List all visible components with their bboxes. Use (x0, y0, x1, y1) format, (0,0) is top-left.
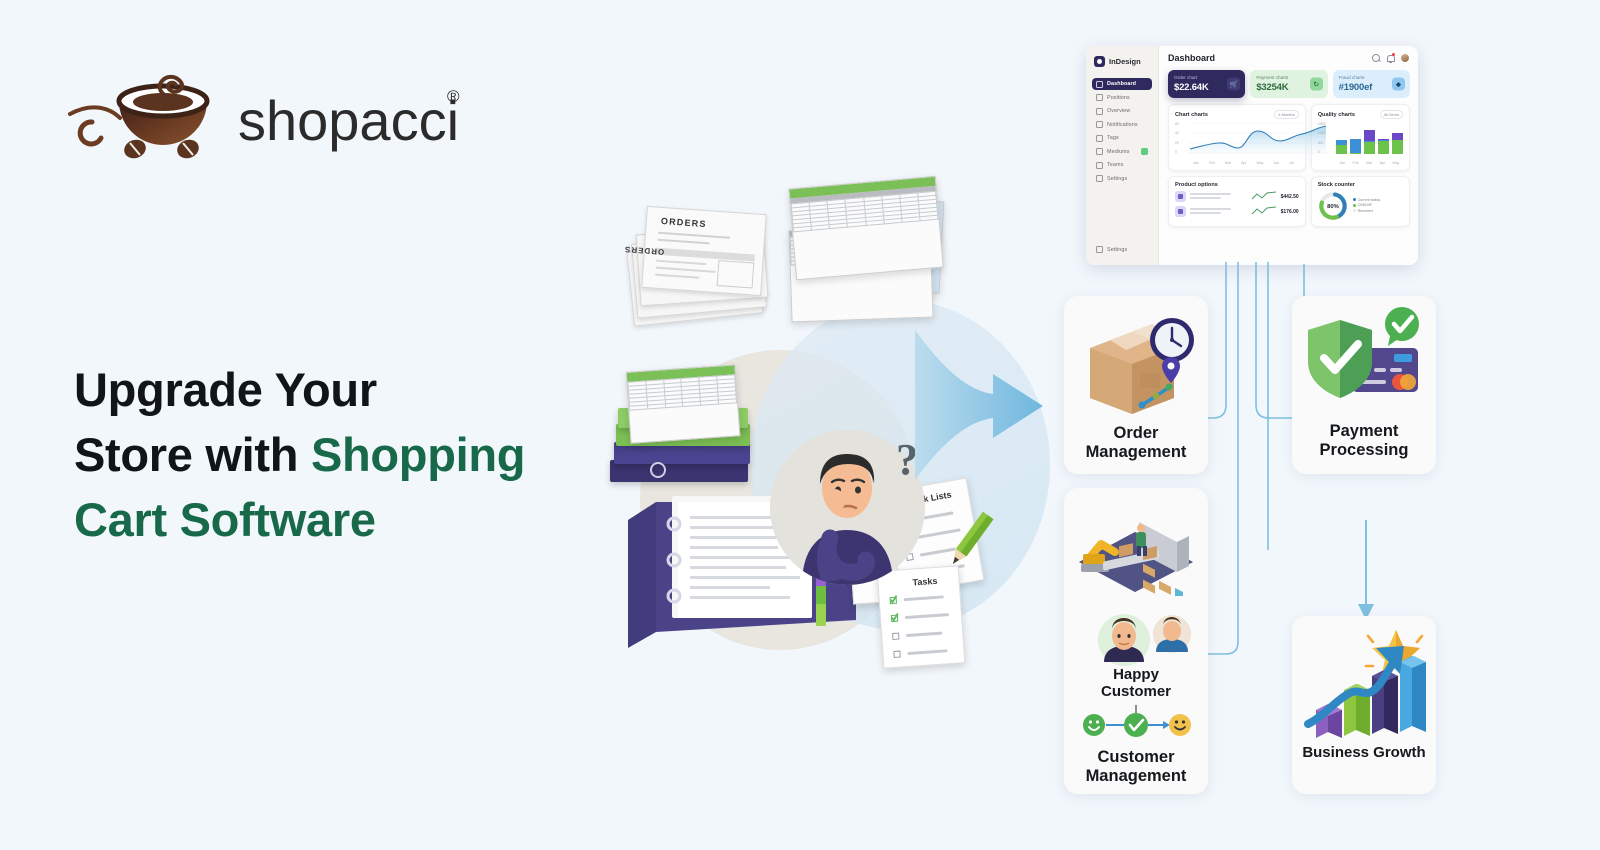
clock-icon (1150, 318, 1194, 362)
page-title: Upgrade Your Store with Shopping Cart So… (74, 358, 594, 553)
sidebar-item-label: Tags (1107, 135, 1119, 141)
nav-icon (1096, 108, 1103, 115)
sidebar-item-label: Settings (1107, 176, 1127, 182)
search-icon[interactable] (1372, 54, 1380, 62)
sidebar-item-positions[interactable]: Positions (1092, 92, 1152, 104)
headline-line-2-plain: Store with (74, 428, 311, 481)
order-management-illustration (1076, 304, 1196, 422)
bar-segment (1392, 133, 1403, 140)
bar-segment (1364, 142, 1375, 154)
area-xtick: Jun (1273, 161, 1279, 165)
nav-icon (1096, 162, 1103, 169)
order-caption-1: Order (1086, 424, 1187, 443)
sidebar-item-label: Notifications (1107, 122, 1138, 128)
nav-badge (1141, 148, 1148, 155)
stock-donut-chart: 80% (1318, 191, 1348, 221)
bar-segment (1350, 153, 1361, 154)
growth-down-arrow-icon (1355, 520, 1385, 630)
product-row[interactable]: $442.50 (1175, 191, 1299, 202)
bar-column (1378, 123, 1389, 154)
area-chart-title: Chart charts (1175, 112, 1208, 118)
sparkline (1251, 191, 1277, 202)
headline-line-1: Upgrade Your (74, 363, 377, 416)
dashboard-brand: InDesign (1092, 56, 1152, 67)
feature-card-order-management[interactable]: Order Management (1064, 296, 1208, 474)
dashboard-stat-cards: Order chart$22.64K🛒Payment charts$3254K↻… (1168, 70, 1410, 98)
stat-card-order-chart[interactable]: Order chart$22.64K🛒 (1168, 70, 1245, 98)
chart-card-bar: Quality charts All Items 1500 1000 500 0… (1311, 104, 1410, 171)
bar-column (1336, 123, 1347, 154)
feature-card-business-growth[interactable]: Business Growth (1292, 616, 1436, 794)
dashboard-charts-row: Chart charts 6 Months 60 40 20 0 (1168, 104, 1410, 171)
sidebar-item-label: Teams (1107, 162, 1123, 168)
logo-wordmark: shopaccino (238, 89, 462, 152)
payment-caption-2: Processing (1320, 441, 1409, 460)
bar-xtick: Jan (1339, 161, 1345, 165)
bar-ytick-2: 500 (1318, 141, 1334, 145)
cart-icon: 🛒 (1227, 78, 1240, 91)
dashboard-nav-list: DashboardPositionsOverviewNotificationsT… (1092, 78, 1152, 186)
area-ytick-2: 20 (1175, 141, 1187, 145)
sidebar-item-overview[interactable]: Overview (1092, 105, 1152, 117)
product-value: $176.00 (1281, 209, 1299, 215)
sidebar-item-label: Positions (1107, 95, 1130, 101)
product-placeholder-lines (1190, 193, 1247, 201)
brand-logo-icon (1094, 56, 1105, 67)
stock-counter-card: Stock counter 80% Current statusC05615FR… (1311, 176, 1410, 227)
payment-caption-1: Payment (1320, 422, 1409, 441)
sparkline (1251, 206, 1277, 217)
nav-icon (1096, 175, 1103, 182)
customer-avatar (1076, 612, 1196, 668)
area-chart-filter[interactable]: 6 Months (1274, 110, 1298, 119)
nav-icon (1096, 148, 1103, 155)
customer-caption-1: Customer (1086, 748, 1187, 767)
growth-caption-1: Business Growth (1302, 744, 1425, 761)
bar-column (1392, 123, 1403, 154)
area-xtick: Mar (1225, 161, 1231, 165)
sidebar-item-teams[interactable]: Teams (1092, 159, 1152, 171)
bar-segment (1336, 145, 1347, 154)
customer-caption-2: Management (1086, 767, 1187, 786)
bar-chart-title: Quality charts (1318, 112, 1355, 118)
sidebar-item-label: Dashboard (1107, 81, 1136, 87)
product-placeholder-lines (1190, 208, 1247, 216)
nav-icon (1096, 81, 1103, 88)
headline-line-2-accent: Shopping (311, 428, 525, 481)
bar-chart-filter[interactable]: All Items (1380, 110, 1403, 119)
bar-xtick: Feb (1353, 161, 1359, 165)
sidebar-item-tags[interactable]: Tags (1092, 132, 1152, 144)
happy-customer-caption-2: Customer (1101, 683, 1171, 700)
feature-card-customer-management[interactable]: Happy Customer Customer Management (1064, 488, 1208, 794)
bar-segment (1364, 130, 1375, 141)
dashboard-brand-name: InDesign (1109, 57, 1141, 66)
area-xtick: May (1257, 161, 1264, 165)
smiley-chain-icon (1080, 705, 1192, 741)
brand-logo[interactable]: shopaccino ® (62, 52, 462, 162)
area-xtick: Jan (1193, 161, 1199, 165)
bar-chart-plot (1336, 123, 1403, 154)
stock-counter-title: Stock counter (1318, 182, 1355, 188)
hero-banner: shopaccino ® Upgrade Your Store with Sho… (0, 0, 1600, 850)
dashboard-title: Dashboard (1168, 53, 1215, 63)
bar-chart-xticks: JanFebMarAprMay (1318, 161, 1403, 165)
headline-line-3-accent: Cart Software (74, 493, 376, 546)
sidebar-item-settings[interactable]: Settings (1092, 173, 1152, 185)
check-bubble-icon (1385, 307, 1419, 346)
bar-segment (1378, 141, 1389, 154)
bar-xtick: Apr (1380, 161, 1386, 165)
shield-icon: ◆ (1392, 78, 1405, 91)
bar-column (1350, 123, 1361, 154)
chart-card-area: Chart charts 6 Months 60 40 20 0 (1168, 104, 1306, 171)
sidebar-item-label: Overview (1107, 108, 1130, 114)
nav-icon (1096, 94, 1103, 101)
area-xtick: Feb (1209, 161, 1215, 165)
bar-ytick-0: 1500 (1318, 122, 1334, 126)
bar-xtick: Mar (1366, 161, 1372, 165)
refresh-icon: ↻ (1310, 78, 1323, 91)
sidebar-item-label: Mediums (1107, 149, 1130, 155)
area-chart-plot (1188, 122, 1328, 155)
bar-ytick-3: 0 (1318, 150, 1334, 154)
product-value: $442.50 (1281, 194, 1299, 200)
bell-icon[interactable] (1386, 54, 1394, 63)
dashboard-mockup[interactable]: InDesign DashboardPositionsOverviewNotif… (1086, 46, 1418, 265)
3d-bar-chart-icon (1316, 656, 1426, 738)
bag-icon (1175, 206, 1186, 217)
warehouse-robot-icon (1073, 500, 1199, 596)
dashboard-sidebar: InDesign DashboardPositionsOverviewNotif… (1086, 46, 1159, 265)
legend-item: Current status (1353, 198, 1381, 202)
stock-legend: Current statusC05615FReceived (1353, 198, 1381, 215)
sidebar-item-notifications[interactable]: Notifications (1092, 119, 1152, 131)
nav-icon (1096, 121, 1103, 128)
nav-icon (1096, 135, 1103, 142)
area-ytick-3: 0 (1175, 150, 1187, 154)
product-options-card: Product options $442.50$176.00 (1168, 176, 1306, 227)
sidebar-item-dashboard[interactable]: Dashboard (1092, 78, 1152, 90)
dashboard-bottom-row: Product options $442.50$176.00 Stock cou… (1168, 176, 1410, 227)
donut-center-label: 80% (1327, 204, 1339, 210)
area-xtick: Apr (1241, 161, 1247, 165)
bar-column (1364, 123, 1375, 154)
area-xtick: Jul (1289, 161, 1294, 165)
product-options-title: Product options (1175, 182, 1218, 188)
dashboard-header: Dashboard (1168, 53, 1410, 63)
area-chart-xticks: JanFebMarAprMayJunJul (1175, 161, 1299, 165)
legend-item: Received (1353, 209, 1381, 213)
stat-card-fraud-charts[interactable]: Fraud charts#1900ef◆ (1333, 70, 1410, 98)
payment-processing-illustration (1302, 306, 1426, 420)
area-ytick-0: 60 (1175, 122, 1187, 126)
funnel-arrow-right-icon (915, 330, 1045, 480)
happy-customer-caption-1: Happy (1101, 666, 1171, 683)
order-caption-2: Management (1086, 443, 1187, 462)
bar-xtick: May (1393, 161, 1400, 165)
coffee-cup-cart-icon (70, 77, 207, 161)
sidebar-item-mediums[interactable]: Mediums (1092, 146, 1152, 158)
legend-item: C05615F (1353, 203, 1381, 207)
product-row[interactable]: $176.00 (1175, 206, 1299, 217)
pencil-icon (940, 508, 1000, 578)
dashboard-main: Dashboard Order chart$22.64K🛒Payment cha… (1159, 46, 1418, 265)
bar-segment (1392, 140, 1403, 154)
stat-card-payment-charts[interactable]: Payment charts$3254K↻ (1250, 70, 1327, 98)
bar-ytick-1: 1000 (1318, 131, 1334, 135)
avatar[interactable] (1400, 53, 1410, 63)
notification-badge (1392, 53, 1396, 57)
business-growth-illustration (1300, 624, 1428, 742)
bar-segment (1350, 139, 1361, 153)
area-ytick-1: 40 (1175, 131, 1187, 135)
feature-card-payment-processing[interactable]: Payment Processing (1292, 296, 1436, 474)
registered-mark: ® (447, 87, 460, 106)
bag-icon (1175, 191, 1186, 202)
